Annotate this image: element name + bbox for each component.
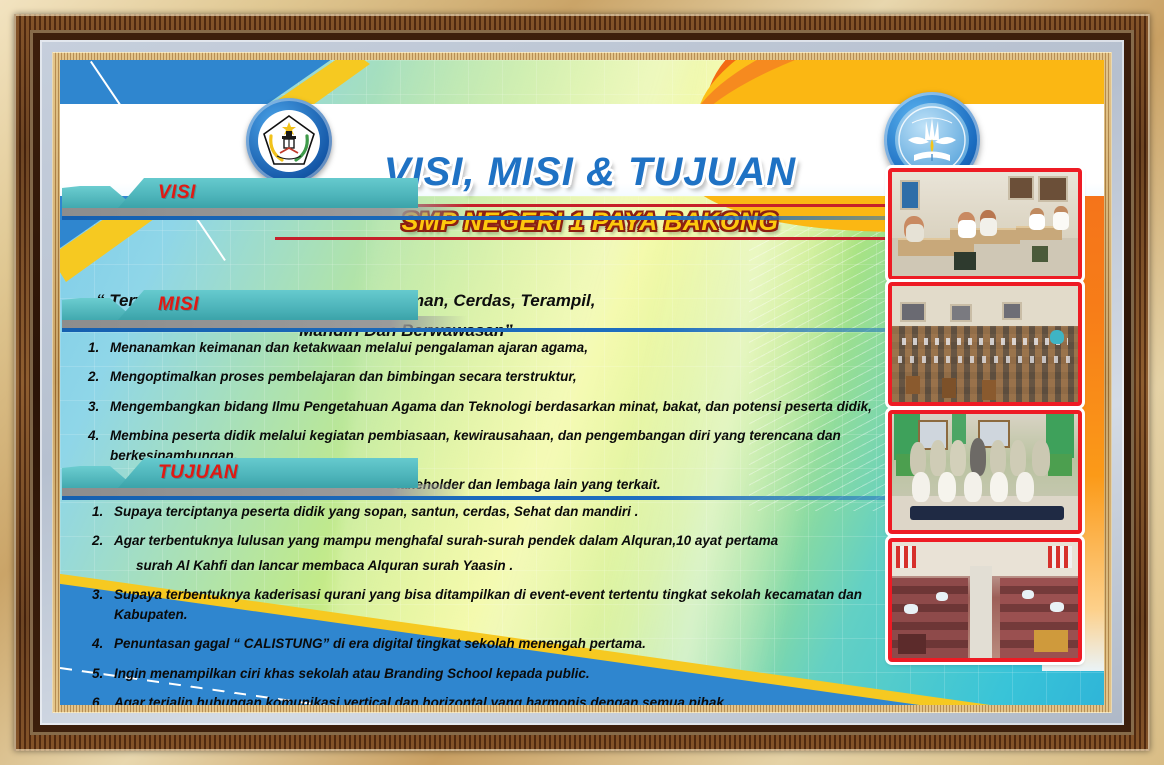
tujuan-item: 3.Supaya terbentuknya kaderisasi qurani … [92,585,912,626]
photo-classroom-students[interactable] [888,168,1082,280]
tut-wuri-handayani-icon [898,106,966,174]
poster-canvas: VISI, MISI & TUJUAN SMP NEGERI 1 PAYA BA… [60,60,1104,705]
tujuan-item: 6.Agar terjalin hubungan komunikasi vert… [92,693,912,705]
misi-item-number: 3. [88,397,110,417]
section-label-tujuan: TUJUAN [158,462,238,484]
photo-assembly-hall-image [892,286,1078,402]
photo-students-seated-hall-image [892,542,1078,658]
tujuan-item-number: 2. [92,531,114,551]
section-label-misi: MISI [158,294,199,316]
photo-classroom-students-image [892,172,1078,276]
tujuan-item-number: 4. [92,634,114,654]
tut-wuri-inner [895,103,969,177]
misi-item-text: Mengoptimalkan proses pembelajaran dan b… [110,367,908,387]
tujuan-item-text: Supaya terciptanya peserta didik yang so… [114,502,912,522]
photo-students-seated-hall[interactable] [888,538,1082,662]
misi-item: 3.Mengembangkan bidang Ilmu Pengetahuan … [88,397,908,417]
misi-item-number: 1. [88,338,110,358]
photo-group-teachers-students[interactable] [888,410,1082,534]
photo-assembly-hall[interactable] [888,282,1082,406]
tujuan-item-text: Supaya terbentuknya kaderisasi qurani ya… [114,585,912,626]
tujuan-item-text: Penuntasan gagal “ CALISTUNG” di era dig… [114,634,912,654]
tujuan-item-number: 1. [92,502,114,522]
photo-group-teachers-students-image [892,414,1078,530]
tujuan-item-text: Agar terjalin hubungan komunikasi vertic… [114,693,912,705]
tujuan-item: 2.Agar terbentuknya lulusan yang mampu m… [92,531,912,551]
tujuan-item: surah Al Kahfi dan lancar membaca Alqura… [114,556,912,576]
school-crest-icon [260,112,318,170]
tujuan-item-text: Ingin menampilkan ciri khas sekolah atau… [114,664,912,684]
misi-item-number: 2. [88,367,110,387]
school-crest-inner [258,110,320,172]
tujuan-item-number: 3. [92,585,114,605]
section-header-misi: MISI [62,290,842,332]
school-crest-logo [246,98,332,184]
title-divider-bottom [275,237,905,240]
tujuan-item: 1.Supaya terciptanya peserta didik yang … [92,502,912,522]
misi-item-text: Mengembangkan bidang Ilmu Pengetahuan Ag… [110,397,908,417]
tujuan-item-number: 5. [92,664,114,684]
tujuan-item: 4.Penuntasan gagal “ CALISTUNG” di era d… [92,634,912,654]
tujuan-list: 1.Supaya terciptanya peserta didik yang … [92,502,912,705]
tujuan-item-text: surah Al Kahfi dan lancar membaca Alqura… [136,556,912,576]
tujuan-item: 5.Ingin menampilkan ciri khas sekolah at… [92,664,912,684]
misi-item-number: 4. [88,426,110,446]
section-header-tujuan: TUJUAN [62,458,842,500]
section-label-visi: VISI [158,182,196,204]
misi-item: 2.Mengoptimalkan proses pembelajaran dan… [88,367,908,387]
tujuan-item-text: Agar terbentuknya lulusan yang mampu men… [114,531,912,551]
misi-item-text: Menanamkan keimanan dan ketakwaan melalu… [110,338,908,358]
misi-item: 1.Menanamkan keimanan dan ketakwaan mela… [88,338,908,358]
section-header-visi: VISI [62,178,842,220]
tujuan-item-number: 6. [92,693,114,705]
